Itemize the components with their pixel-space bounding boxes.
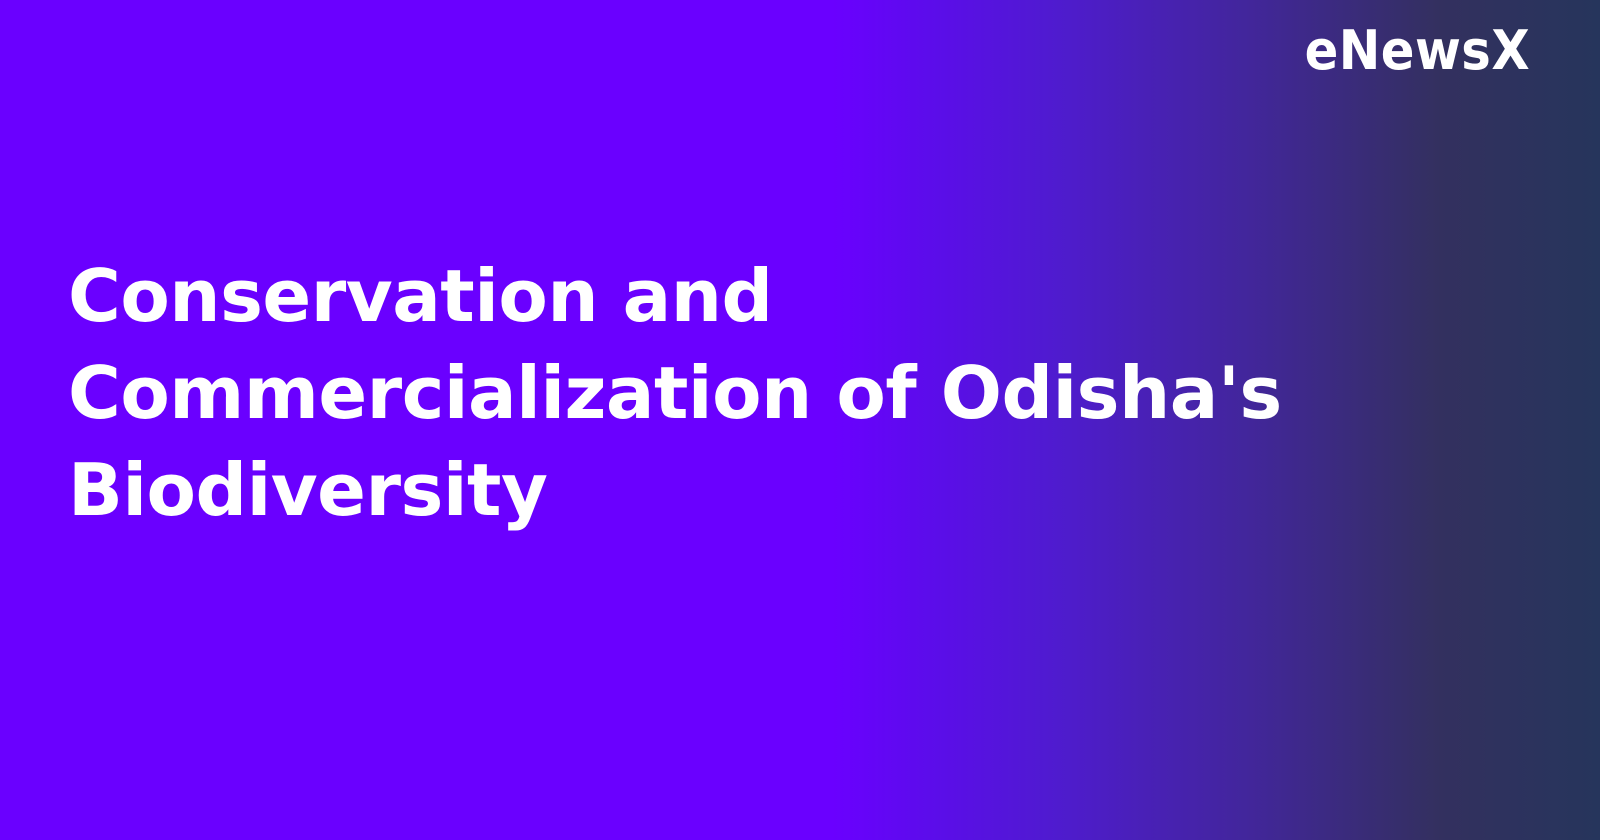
enewsx-logo[interactable]: eNewsX (1304, 24, 1530, 78)
headline-block: Conservation and Commercialization of Od… (68, 248, 1498, 539)
brand-header: eNewsX (0, 0, 1600, 140)
article-headline: Conservation and Commercialization of Od… (68, 248, 1498, 539)
article-hero-card: eNewsX Conservation and Commercializatio… (0, 0, 1600, 840)
